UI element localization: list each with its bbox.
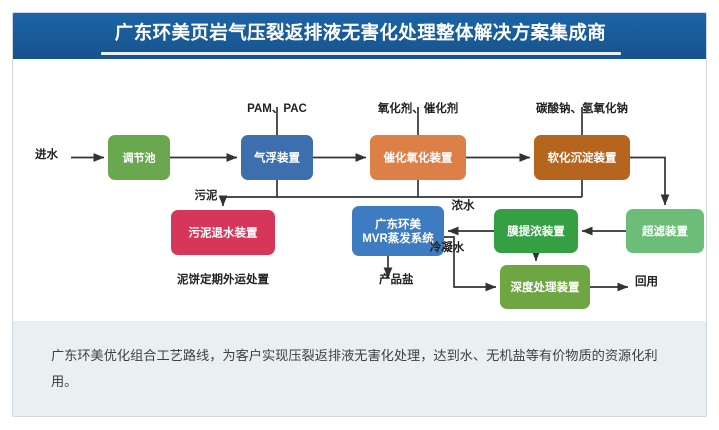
title-underline-rule (101, 52, 621, 55)
edge-sludge-bus-to-wunituishui (223, 197, 582, 206)
flow-node-label: 深度处理装置 (511, 280, 580, 294)
flow-node-label: 催化氧化装置 (384, 151, 453, 165)
flow-node-label: 超滤装置 (641, 224, 688, 238)
flow-node-motinong[interactable]: 膜提浓装置 (494, 209, 578, 253)
dosing-label-soda: 碳酸钠、氢氧化钠 (536, 101, 628, 115)
flow-text-labels: 进水泥饼定期外运处置产品盐回用PAM、PAC氧化剂、催化剂碳酸钠、氢氧化钠污泥浓… (35, 101, 658, 288)
terminal-label-chanpinyan: 产品盐 (379, 272, 414, 286)
terminal-label-nibing: 泥饼定期外运处置 (177, 272, 269, 286)
edge-label-nongshui: 浓水 (452, 198, 475, 212)
flow-node-label: 软化沉淀装置 (548, 151, 617, 165)
edge-ruanhua-to-chaolv (630, 158, 665, 206)
flow-node-label: 气浮装置 (253, 151, 300, 165)
flow-node-ruanhua[interactable]: 软化沉淀装置 (534, 135, 630, 180)
flow-node-label: 调节池 (123, 151, 156, 165)
terminal-label-jinshui: 进水 (35, 147, 58, 161)
solution-card: 广东环美页岩气压裂返排液无害化处理整体解决方案集成商 调节池气浮装置催化氧化装置… (12, 12, 707, 417)
flowchart-canvas: 调节池气浮装置催化氧化装置软化沉淀装置超滤装置膜提浓装置广东环美MVR蒸发系统污… (13, 59, 707, 321)
title-bar: 广东环美页岩气压裂返排液无害化处理整体解决方案集成商 (13, 13, 707, 59)
screenshot-root: 广东环美页岩气压裂返排液无害化处理整体解决方案集成商 调节池气浮装置催化氧化装置… (0, 0, 719, 430)
flow-node-wunituishui[interactable]: 污泥退水装置 (171, 210, 275, 255)
footer-caption: 广东环美优化组合工艺路线，为客户实现压裂返排液无害化处理，达到水、无机盐等有价物… (51, 343, 681, 395)
flow-node-cuihua[interactable]: 催化氧化装置 (370, 135, 466, 180)
flow-node-qifu[interactable]: 气浮装置 (241, 135, 313, 180)
flow-edges (71, 107, 665, 287)
page-title: 广东环美页岩气压裂返排液无害化处理整体解决方案集成商 (13, 13, 707, 53)
dosing-label-oxidant: 氧化剂、催化剂 (377, 101, 459, 115)
flow-node-label: 膜提浓装置 (507, 224, 565, 238)
process-flow-diagram: 调节池气浮装置催化氧化装置软化沉淀装置超滤装置膜提浓装置广东环美MVR蒸发系统污… (13, 59, 707, 321)
terminal-label-huiyong: 回用 (635, 274, 658, 288)
flow-node-chaolv[interactable]: 超滤装置 (626, 209, 704, 253)
edge-label-wuni: 污泥 (195, 188, 218, 202)
dosing-label-pam-pac: PAM、PAC (247, 103, 307, 115)
edge-label-lengningshui: 冷凝水 (430, 240, 465, 254)
flow-node-shendu[interactable]: 深度处理装置 (500, 265, 590, 309)
flow-node-tiaojiechi[interactable]: 调节池 (108, 135, 170, 180)
flow-node-label: 污泥退水装置 (189, 226, 258, 240)
footer-panel: 广东环美优化组合工艺路线，为客户实现压裂返排液无害化处理，达到水、无机盐等有价物… (13, 321, 707, 417)
